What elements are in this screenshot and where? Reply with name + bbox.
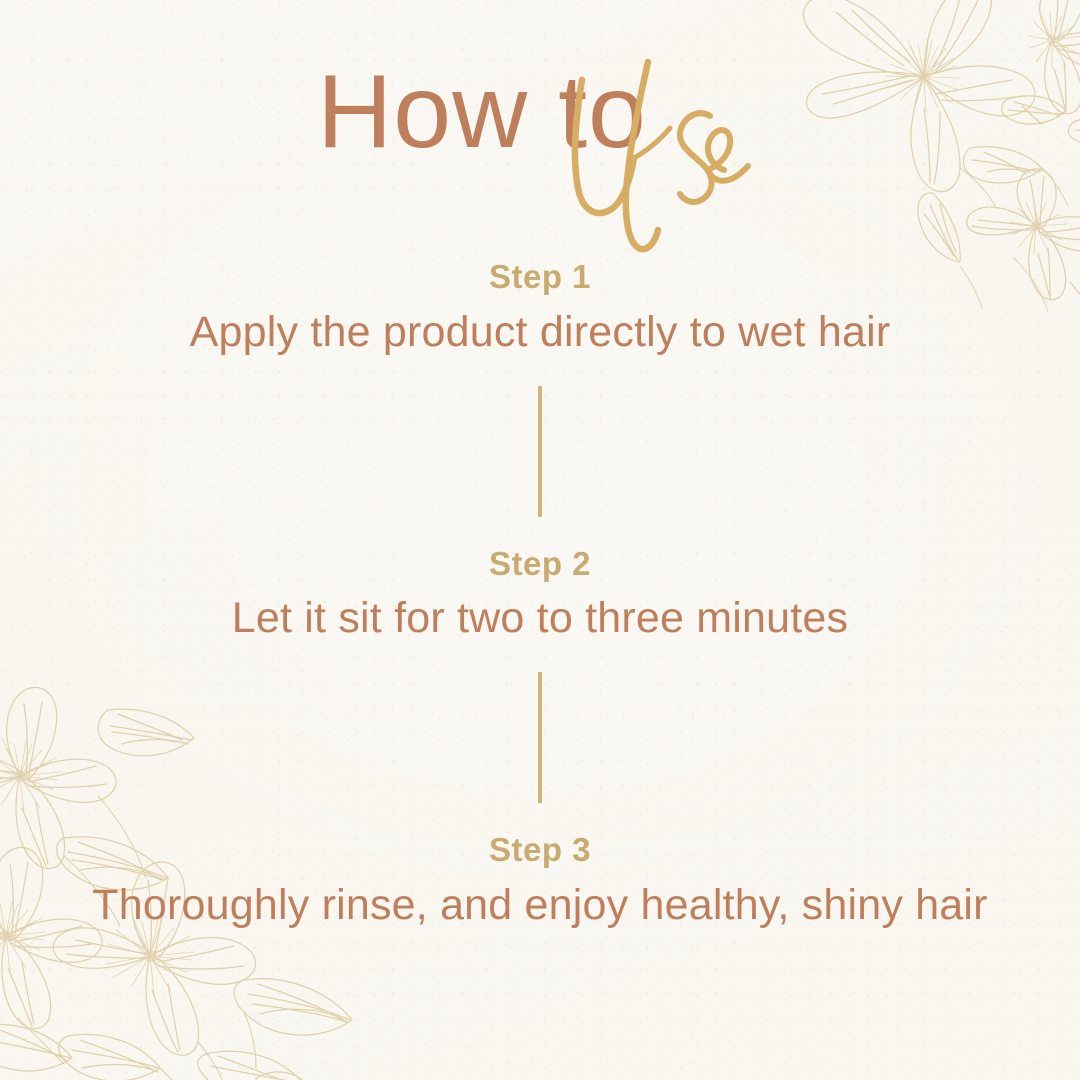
step-divider-2-wrapper bbox=[0, 645, 1080, 831]
step-2-label: Step 2 bbox=[0, 545, 1080, 584]
step-3-block: Step 3 Thoroughly rinse, and enjoy healt… bbox=[0, 831, 1080, 932]
page-header: How to Use bbox=[0, 52, 1080, 227]
step-1-text: Apply the product directly to wet hair bbox=[0, 307, 1080, 359]
step-divider-2 bbox=[538, 672, 542, 803]
step-2-text: Let it sit for two to three minutes bbox=[0, 593, 1080, 645]
step-divider-1-wrapper bbox=[0, 359, 1080, 545]
step-3-label: Step 3 bbox=[0, 831, 1080, 870]
steps-list: Step 1 Apply the product directly to wet… bbox=[0, 258, 1080, 932]
step-1-block: Step 1 Apply the product directly to wet… bbox=[0, 258, 1080, 359]
step-2-block: Step 2 Let it sit for two to three minut… bbox=[0, 545, 1080, 646]
how-to-use-card: How to Use Step 1 Apply the product dire… bbox=[0, 0, 1080, 1080]
page-title-primary: How to bbox=[0, 60, 1022, 164]
page-title-script: Use bbox=[562, 54, 782, 264]
step-divider-1 bbox=[538, 386, 542, 517]
step-1-label: Step 1 bbox=[0, 258, 1080, 297]
step-3-text: Thoroughly rinse, and enjoy healthy, shi… bbox=[0, 880, 1080, 932]
